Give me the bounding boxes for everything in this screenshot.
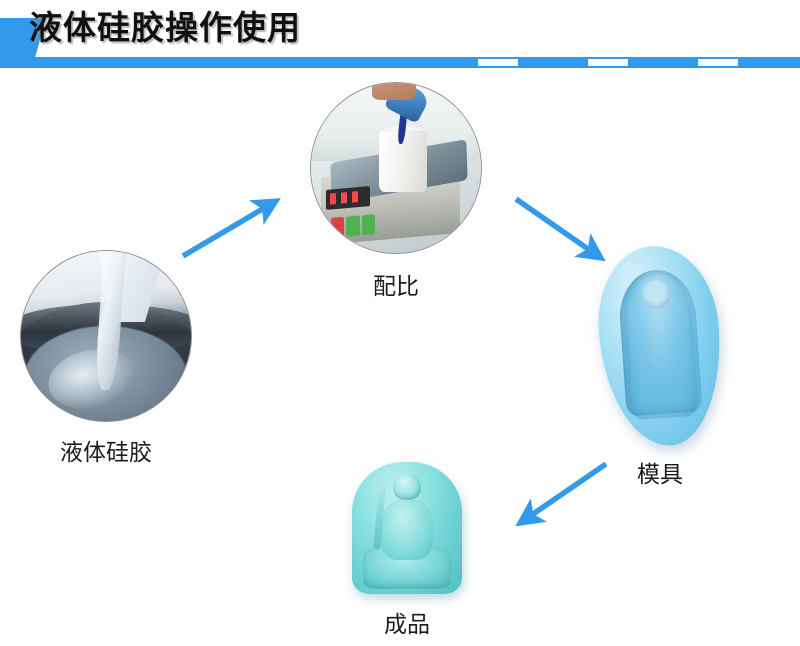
silicone-mold-photo — [593, 242, 727, 450]
flow-step-mold: 模具 — [600, 246, 720, 490]
flow-step-label-product: 成品 — [352, 610, 462, 640]
header-rule-dashes — [408, 59, 800, 66]
page-header: 液体硅胶操作使用 — [0, 0, 800, 70]
flow-step-liquid-silicone: 液体硅胶 — [20, 250, 192, 468]
figurine-body-shape — [381, 499, 434, 560]
finished-figurine-photo — [352, 462, 462, 594]
scale-keypad — [331, 214, 375, 238]
hand-shape — [372, 82, 416, 100]
flow-step-ratio: 配比 — [310, 82, 482, 302]
flow-step-product: 成品 — [352, 462, 462, 640]
flow-step-label-mold: 模具 — [600, 460, 720, 490]
flow-step-label-liquid-silicone: 液体硅胶 — [20, 438, 192, 468]
flow-step-label-ratio: 配比 — [310, 272, 482, 302]
liquid-silicone-photo — [20, 250, 192, 422]
ratio-photo — [310, 82, 482, 254]
page-title: 液体硅胶操作使用 — [29, 6, 301, 50]
figurine-head-shape — [393, 474, 422, 500]
process-diagram: 液体硅胶 配比 模具 — [0, 70, 800, 646]
